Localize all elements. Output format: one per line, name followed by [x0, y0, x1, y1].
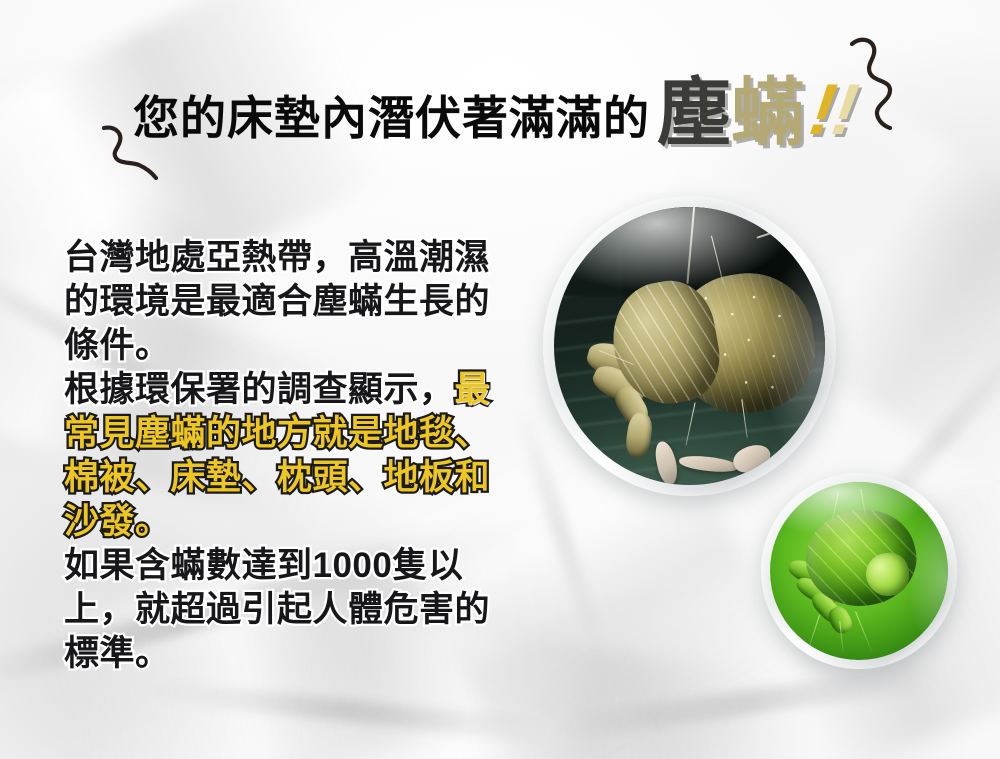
headline-exclamations: !! [811, 74, 857, 150]
copy-line-10: 標準。 [64, 632, 514, 676]
dish-glass [770, 482, 948, 660]
copy-line-2: 的環境是最適合塵蟎生長的 [64, 280, 514, 324]
copy-line-9: 上，就超過引起人體危害的 [64, 588, 514, 632]
microscope-scene-green [770, 482, 948, 660]
copy-line-3: 條件。 [64, 324, 514, 368]
headline: 您的床墊內潛伏著滿滿的 塵 蟎 !! [0, 74, 1000, 160]
copy-line-8: 如果含蟎數達到1000隻以 [64, 544, 514, 588]
dish-glass [554, 207, 825, 485]
body-copy-block: 台灣地處亞熱帶，高溫潮濕 的環境是最適合塵蟎生長的 條件。 根據環保署的調查顯示… [64, 236, 514, 676]
copy-line-4: 根據環保署的調查顯示，最 [64, 368, 514, 412]
dust-mite-photo-large [543, 196, 836, 496]
poster-canvas: 您的床墊內潛伏著滿滿的 塵 蟎 !! 台灣地處亞熱帶，高溫潮濕 的環境是最適合塵… [0, 0, 1000, 759]
mite-seta [855, 611, 872, 651]
copy-line-4-plain: 根據環保署的調查顯示， [64, 370, 455, 409]
microscope-scene-olive [554, 207, 825, 485]
copy-line-7: 沙發。 [64, 500, 514, 544]
mite-seta [807, 614, 820, 652]
copy-line-5: 常見塵蟎的地方就是地毯、 [64, 412, 514, 456]
copy-line-4-highlight: 最 [455, 370, 491, 409]
copy-line-1: 台灣地處亞熱帶，高溫潮濕 [64, 236, 514, 280]
copy-line-6: 棉被、床墊、枕頭、地板和 [64, 456, 514, 500]
headline-emphasis-dust: 塵 [657, 76, 731, 150]
headline-emphasis-mite: 蟎 [731, 76, 805, 150]
dust-mite-photo-small [761, 473, 957, 669]
headline-lead-text: 您的床墊內潛伏著滿滿的 [133, 95, 650, 150]
